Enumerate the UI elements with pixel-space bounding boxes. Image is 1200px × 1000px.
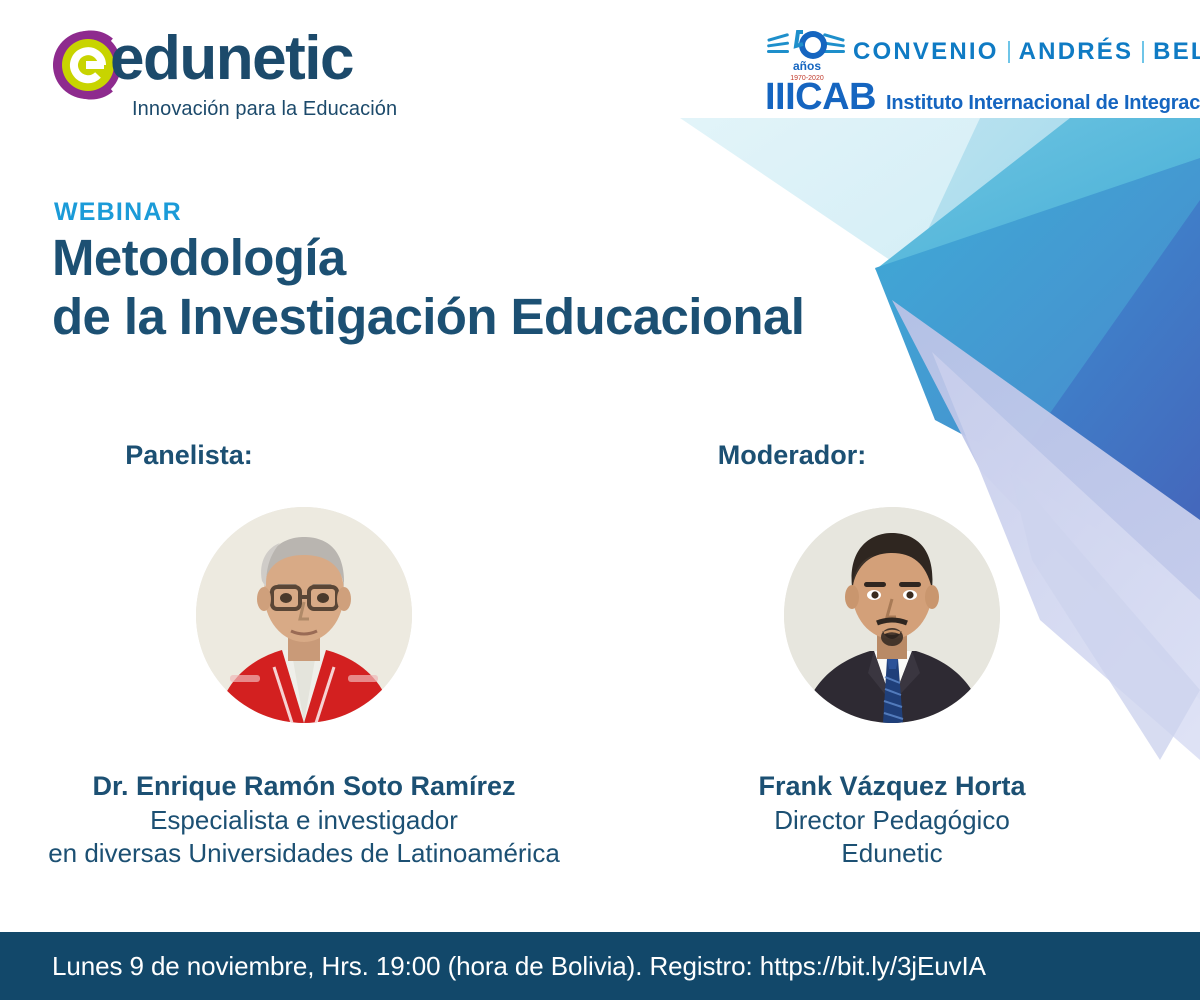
speaker-role-moderador: Moderador:	[412, 440, 1172, 471]
speaker-panelist: Panelista:	[24, 440, 584, 871]
cab-acronym: IIICAB	[765, 78, 876, 116]
page-title: Metodología de la Investigación Educacio…	[52, 228, 952, 346]
moderator-description-line-1: Director Pedagógico	[612, 804, 1172, 838]
cab-separator-2	[1142, 41, 1144, 63]
title-line-1: Metodología	[52, 228, 952, 287]
footer-bar: Lunes 9 de noviembre, Hrs. 19:00 (hora d…	[0, 932, 1200, 1000]
edunetic-tagline: Innovación para la Educación	[132, 98, 397, 121]
cab-institute-name: Instituto Internacional de Integración	[886, 92, 1200, 115]
moderator-description-line-2: Edunetic	[612, 837, 1172, 871]
webinar-eyebrow: WEBINAR	[54, 198, 182, 227]
panelist-name: Dr. Enrique Ramón Soto Ramírez	[24, 769, 584, 804]
cab-word-convenio: CONVENIO	[853, 38, 999, 66]
speaker-moderator: Moderador:	[612, 440, 1172, 871]
convenio-andres-bello-logo: años 1970-2020 CONVENIO ANDRÉS BELLO III…	[765, 26, 1160, 112]
cab-word-andres: ANDRÉS	[1019, 38, 1134, 66]
event-datetime-registration: Lunes 9 de noviembre, Hrs. 19:00 (hora d…	[52, 951, 986, 982]
moderator-description: Director Pedagógico Edunetic	[612, 804, 1172, 872]
webinar-poster: edunetic Innovación para la Educación añ…	[0, 0, 1200, 1000]
panelist-description: Especialista e investigador en diversas …	[24, 804, 584, 872]
panelist-description-line-1: Especialista e investigador	[24, 804, 584, 838]
title-line-2: de la Investigación Educacional	[52, 287, 952, 346]
moderator-name: Frank Vázquez Horta	[612, 769, 1172, 804]
cab-separator-1	[1008, 41, 1010, 63]
panelist-avatar	[196, 507, 412, 723]
cab-word-bello: BELLO	[1153, 38, 1200, 66]
moderator-avatar	[784, 507, 1000, 723]
cab-institute-row: IIICAB Instituto Internacional de Integr…	[765, 78, 1200, 116]
panelist-description-line-2: en diversas Universidades de Latinoaméri…	[24, 837, 584, 871]
edunetic-wordmark: edunetic	[110, 28, 353, 90]
cab-anniversary-label: años	[793, 59, 821, 73]
edunetic-logo: edunetic Innovación para la Educación	[48, 24, 418, 120]
cab-tagline-row: CONVENIO ANDRÉS BELLO	[853, 38, 1200, 66]
